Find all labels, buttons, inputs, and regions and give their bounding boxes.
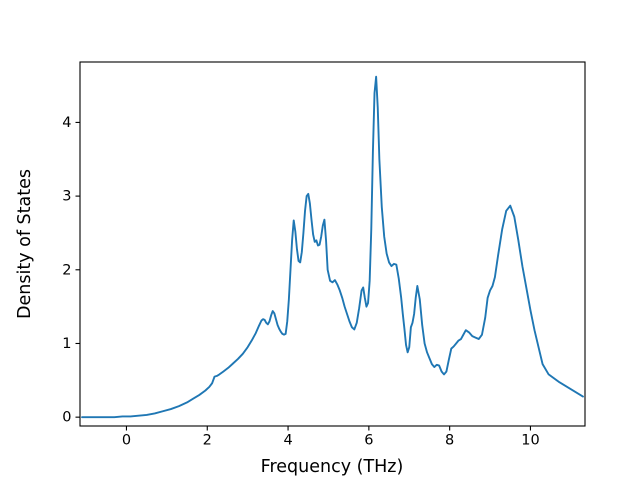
x-tick-label: 0 — [122, 433, 131, 449]
x-tick-label: 6 — [364, 433, 373, 449]
y-tick-label: 0 — [62, 410, 71, 426]
y-axis-label: Density of States — [15, 169, 35, 319]
y-tick-label: 4 — [62, 115, 71, 131]
y-tick-label: 1 — [62, 336, 71, 352]
y-tick-label: 3 — [62, 189, 71, 205]
figure-canvas: 0246810 01234 Frequency (THz) Density of… — [0, 0, 640, 480]
x-tick-label: 10 — [521, 433, 539, 449]
x-tick-label: 8 — [445, 433, 454, 449]
x-tick-label: 4 — [283, 433, 292, 449]
dos-chart: 0246810 01234 Frequency (THz) Density of… — [0, 0, 640, 480]
x-axis-label: Frequency (THz) — [261, 457, 404, 477]
x-tick-label: 2 — [203, 433, 212, 449]
y-tick-label: 2 — [62, 262, 71, 278]
